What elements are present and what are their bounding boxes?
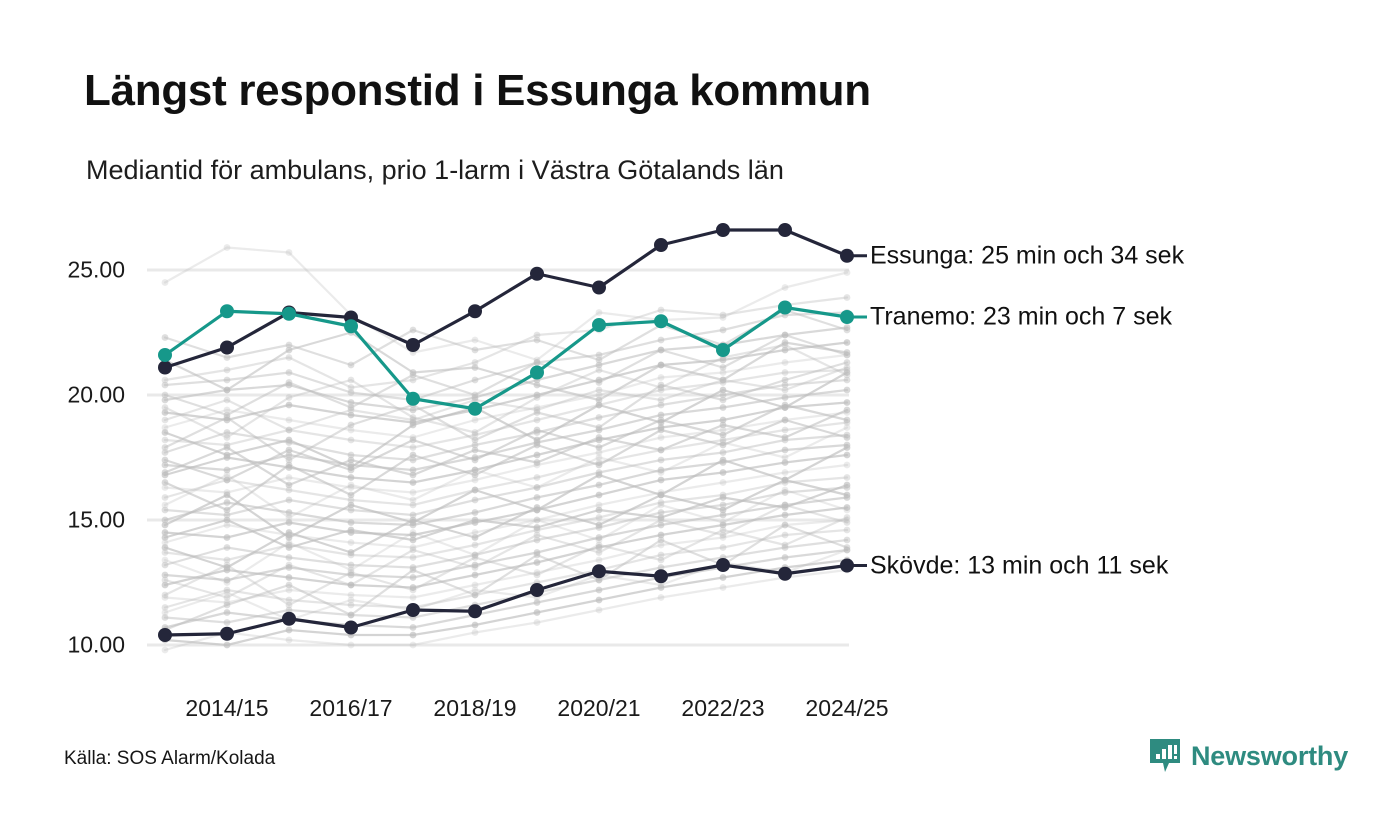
series-muted <box>162 557 851 649</box>
newsworthy-logo: Newsworthy <box>1148 737 1348 775</box>
series-label-essunga: Essunga: 25 min och 34 sek <box>870 241 1184 270</box>
bar-chart-speech-bubble-icon <box>1148 737 1182 775</box>
x-tick-label: 2018/19 <box>433 695 516 722</box>
series-muted <box>162 452 851 541</box>
x-tick-label: 2024/25 <box>805 695 888 722</box>
y-tick-label: 15.00 <box>5 507 125 534</box>
y-tick-label: 20.00 <box>5 382 125 409</box>
x-tick-label: 2020/21 <box>557 695 640 722</box>
y-tick-label: 25.00 <box>5 257 125 284</box>
x-tick-label: 2016/17 <box>309 695 392 722</box>
logo-wordmark: Newsworthy <box>1191 741 1348 772</box>
chart-page: Längst responstid i Essunga kommun Media… <box>0 0 1400 840</box>
x-tick-label: 2022/23 <box>681 695 764 722</box>
series-highlighted <box>158 558 854 642</box>
x-tick-label: 2014/15 <box>185 695 268 722</box>
line-chart: 10.0015.0020.0025.00 2014/152016/172018/… <box>0 0 1400 840</box>
y-tick-label: 10.00 <box>5 632 125 659</box>
source-note: Källa: SOS Alarm/Kolada <box>64 748 275 770</box>
series-label-tranemo: Tranemo: 23 min och 7 sek <box>870 303 1172 332</box>
series-label-skövde: Skövde: 13 min och 11 sek <box>870 551 1168 580</box>
series-muted <box>162 307 851 369</box>
